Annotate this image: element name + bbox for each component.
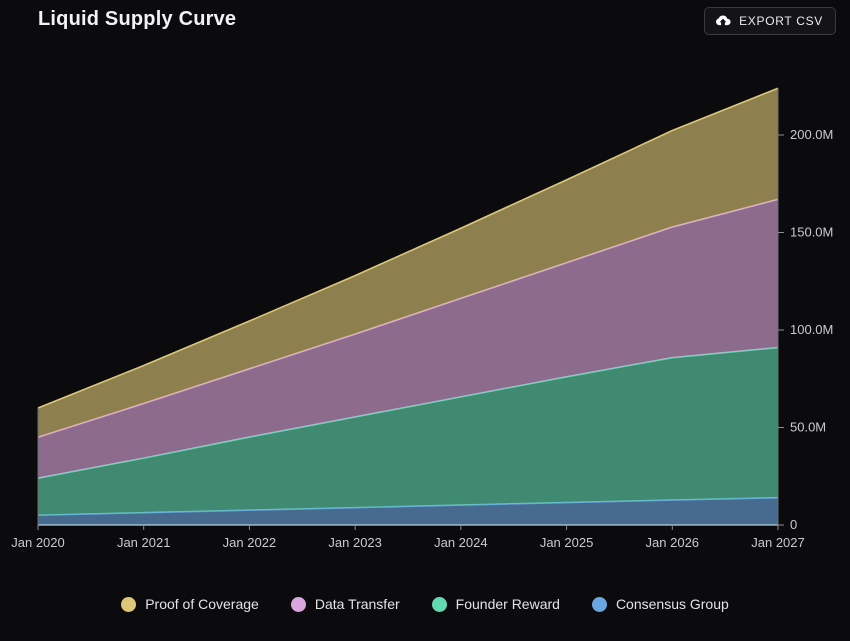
y-axis-tick-label: 50.0M (790, 420, 826, 435)
y-axis-tick-labels: 050.0M100.0M150.0M200.0M (790, 127, 833, 532)
y-axis-tick-label: 150.0M (790, 225, 833, 240)
y-axis-tick-label: 200.0M (790, 127, 833, 142)
legend-item[interactable]: Data Transfer (291, 596, 400, 612)
chart-legend: Proof of CoverageData TransferFounder Re… (0, 596, 850, 612)
export-csv-label: EXPORT CSV (739, 14, 823, 28)
y-axis-tick-label: 0 (790, 517, 797, 532)
x-axis-tick-label: Jan 2026 (646, 535, 700, 550)
liquid-supply-curve-panel: Liquid Supply Curve EXPORT CSV Jan 2020J… (0, 0, 850, 641)
x-axis-tick-label: Jan 2023 (328, 535, 382, 550)
legend-item-label: Data Transfer (315, 596, 400, 612)
chart-areas (38, 88, 778, 525)
legend-item[interactable]: Proof of Coverage (121, 596, 259, 612)
export-csv-button[interactable]: EXPORT CSV (704, 7, 836, 35)
x-axis-tick-labels: Jan 2020Jan 2021Jan 2022Jan 2023Jan 2024… (11, 535, 805, 550)
legend-item-label: Consensus Group (616, 596, 729, 612)
x-axis-tick-label: Jan 2022 (223, 535, 277, 550)
stacked-area-chart[interactable]: Jan 2020Jan 2021Jan 2022Jan 2023Jan 2024… (0, 56, 850, 576)
y-axis-tick-label: 100.0M (790, 322, 833, 337)
legend-swatch-icon (432, 597, 447, 612)
legend-item-label: Proof of Coverage (145, 596, 259, 612)
legend-item[interactable]: Consensus Group (592, 596, 729, 612)
legend-swatch-icon (121, 597, 136, 612)
legend-swatch-icon (291, 597, 306, 612)
x-axis-tick-label: Jan 2025 (540, 535, 594, 550)
cloud-download-icon (715, 14, 731, 28)
page-title: Liquid Supply Curve (38, 8, 236, 31)
x-axis-tick-label: Jan 2020 (11, 535, 65, 550)
chart-header: Liquid Supply Curve EXPORT CSV (0, 0, 850, 56)
legend-swatch-icon (592, 597, 607, 612)
x-axis-tick-label: Jan 2021 (117, 535, 171, 550)
legend-item[interactable]: Founder Reward (432, 596, 560, 612)
legend-item-label: Founder Reward (456, 596, 560, 612)
x-axis-tick-label: Jan 2024 (434, 535, 488, 550)
x-axis-tick-label: Jan 2027 (751, 535, 805, 550)
